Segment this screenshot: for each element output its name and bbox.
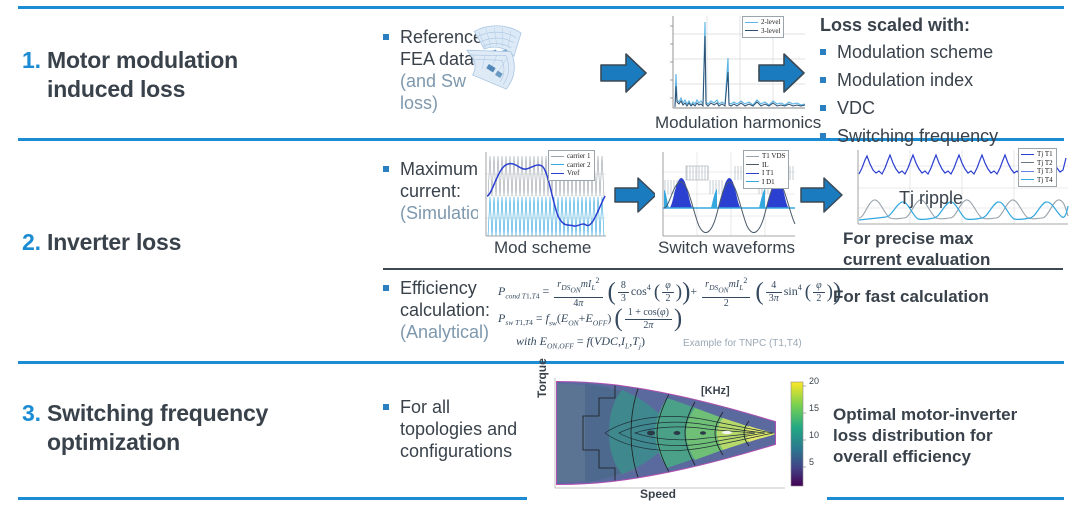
harmonics-caption: Modulation harmonics (655, 113, 821, 133)
colorbar-tick-10: 10 (809, 430, 819, 440)
legend-label: IL (762, 161, 769, 170)
fsw-map-x-axis-label: Speed (640, 487, 676, 501)
mod-scheme-legend: carrier 1 carrier 2 Vref (548, 150, 595, 181)
fsw-map-y-axis-label: Torque (535, 358, 549, 398)
colorbar-tick-15: 15 (809, 403, 819, 413)
section-2-title-line1: Inverter loss (47, 229, 181, 255)
arrow-right-icon (614, 176, 658, 219)
list-item-label: Switching frequency (837, 125, 998, 147)
legend-label: Tj T1 (1037, 150, 1053, 159)
list-item-label: VDC (837, 97, 875, 119)
section-1-conclusion: Loss scaled with: Modulation scheme Modu… (820, 14, 1070, 147)
arrow-right-icon (800, 176, 844, 219)
bullet-3-line1: Efficiency (400, 278, 477, 298)
section-2-number: 2. (22, 229, 41, 255)
bullet-square-icon (383, 285, 389, 291)
legend-label: carrier 1 (567, 152, 591, 161)
list-item: Switching frequency (820, 125, 1070, 147)
bullet-square-icon (820, 133, 826, 139)
fsw-map-chart (527, 368, 827, 500)
bullet-3-muted: (Analytical) (400, 322, 489, 342)
legend-line-icon (745, 30, 758, 31)
fsw-map-colorbar-unit: [KHz] (701, 385, 730, 397)
section-3-bullets: For all topologies and configurations (383, 396, 523, 462)
switching-loss-equation: Psw T1,T4 = fsw(EON+EOFF) (1 + cos(φ)2π) (498, 305, 682, 333)
bullet-4-line3: configurations (400, 441, 512, 461)
legend-line-icon (551, 173, 564, 174)
legend-item: IL (746, 161, 785, 170)
bullet-item: For all topologies and configurations (383, 396, 523, 462)
section-3-title-line1: Switching frequency (47, 400, 268, 426)
legend-line-icon (1021, 179, 1034, 180)
switch-waveforms-caption: Switch waveforms (658, 238, 795, 258)
conclusion-text: For fast calculation (833, 286, 1063, 307)
bullet-2-line2: current: (400, 181, 461, 201)
bullet-2-line1: Maximum (400, 159, 478, 179)
section-2-conclusion-precise: For precise max current evaluation (843, 228, 1013, 270)
conclusion-header: Loss scaled with: (820, 14, 1070, 36)
section-1-title: 1. Motor modulation induced loss (22, 46, 352, 104)
section-1-title-line1: Motor modulation (47, 47, 238, 73)
bullet-square-icon (820, 105, 826, 111)
section-3-title: 3. Switching frequency optimization (22, 399, 362, 457)
legend-line-icon (551, 164, 564, 165)
tj-ripple-overlay-label: Tj ripple (899, 188, 963, 208)
list-item: Modulation scheme (820, 41, 1070, 63)
legend-item: Vref (551, 169, 591, 178)
legend-item: Tj T4 (1021, 176, 1053, 185)
arrow-right-icon (758, 52, 806, 99)
legend-item: Tj T1 (1021, 150, 1053, 159)
legend-item: I D1 (746, 178, 785, 187)
section-3-conclusion: Optimal motor-inverter loss distribution… (833, 404, 1073, 467)
tj-ripple-legend: Tj T1 Tj T2 Tj T3 Tj T4 (1018, 148, 1057, 187)
legend-item: Tj T2 (1021, 159, 1053, 168)
switch-waveforms-chart: T1 VDS IL I T1 I D1 (655, 150, 797, 242)
eon-eoff-definition: with EON,OFF = f(VDC,IL,Tj) (516, 334, 645, 350)
legend-line-icon (746, 173, 759, 174)
list-item: Modulation index (820, 69, 1070, 91)
legend-item: Tj T3 (1021, 167, 1053, 176)
legend-item: T1 VDS (746, 152, 785, 161)
legend-line-icon (745, 22, 758, 23)
legend-label: Tj T4 (1037, 176, 1053, 185)
bullet-item: Efficiency calculation: (Analytical) (383, 277, 493, 343)
legend-line-icon (746, 156, 759, 157)
conclusion-line3: overall efficiency (833, 446, 1073, 467)
legend-label: I D1 (762, 178, 775, 187)
legend-line-icon (1021, 162, 1034, 163)
bullet-square-icon (383, 404, 389, 410)
bullet-square-icon (383, 34, 389, 40)
list-item: VDC (820, 97, 1070, 119)
bullet-4-line2: topologies and (400, 419, 517, 439)
conclusion-line1: For precise max (843, 228, 1013, 249)
legend-line-icon (746, 164, 759, 165)
legend-item: 2-level (745, 18, 780, 27)
legend-line-icon (1021, 154, 1034, 155)
section-3-number: 3. (22, 400, 41, 426)
legend-label: Tj T3 (1037, 167, 1053, 176)
harmonics-legend: 2-level 3-level (742, 16, 784, 38)
fea-motor-image (438, 18, 558, 126)
legend-line-icon (1021, 171, 1034, 172)
legend-item: carrier 1 (551, 152, 591, 161)
bullet-4-line1: For all (400, 397, 450, 417)
equation-example-note: Example for TNPC (T1,T4) (683, 338, 802, 349)
legend-label: 2-level (761, 18, 780, 27)
mod-scheme-caption: Mod scheme (494, 238, 591, 258)
legend-label: Tj T2 (1037, 159, 1053, 168)
arrow-right-icon (600, 52, 648, 99)
section-1-title-line2: induced loss (22, 75, 185, 104)
legend-item: I T1 (746, 169, 785, 178)
legend-label: I T1 (762, 169, 774, 178)
section-3-title-line2: optimization (22, 428, 180, 457)
with-keyword: with (516, 334, 537, 348)
colorbar-tick-20: 20 (809, 376, 819, 386)
switch-waveforms-legend: T1 VDS IL I T1 I D1 (743, 150, 789, 189)
section-2-title: 2. Inverter loss (22, 228, 352, 257)
mod-scheme-chart: carrier 1 carrier 2 Vref (478, 150, 608, 242)
bullet-square-icon (820, 49, 826, 55)
legend-label: T1 VDS (762, 152, 785, 161)
legend-item: carrier 2 (551, 161, 591, 170)
conclusion-line2: loss distribution for (833, 425, 1073, 446)
divider-top (18, 6, 1064, 9)
legend-label: 3-level (761, 27, 780, 36)
list-item-label: Modulation index (837, 69, 973, 91)
list-item-label: Modulation scheme (837, 41, 993, 63)
slide-root: 1. Motor modulation induced loss Referen… (0, 0, 1080, 507)
conclusion-list: Modulation scheme Modulation index VDC S… (820, 41, 1070, 147)
section-2-bullet-efficiency: Efficiency calculation: (Analytical) (383, 277, 493, 343)
bullet-square-icon (820, 77, 826, 83)
colorbar-tick-5: 5 (809, 457, 814, 467)
section-1-number: 1. (22, 47, 41, 73)
bullet-square-icon (383, 166, 389, 172)
legend-line-icon (551, 156, 564, 157)
conclusion-line2: current evaluation (843, 249, 1013, 270)
bullet-3-line2: calculation: (400, 300, 490, 320)
legend-label: Vref (567, 169, 579, 178)
legend-item: 3-level (745, 27, 780, 36)
legend-line-icon (746, 181, 759, 182)
legend-label: carrier 2 (567, 161, 591, 170)
section-2-conclusion-fast: For fast calculation (833, 286, 1063, 307)
conclusion-line1: Optimal motor-inverter (833, 404, 1073, 425)
